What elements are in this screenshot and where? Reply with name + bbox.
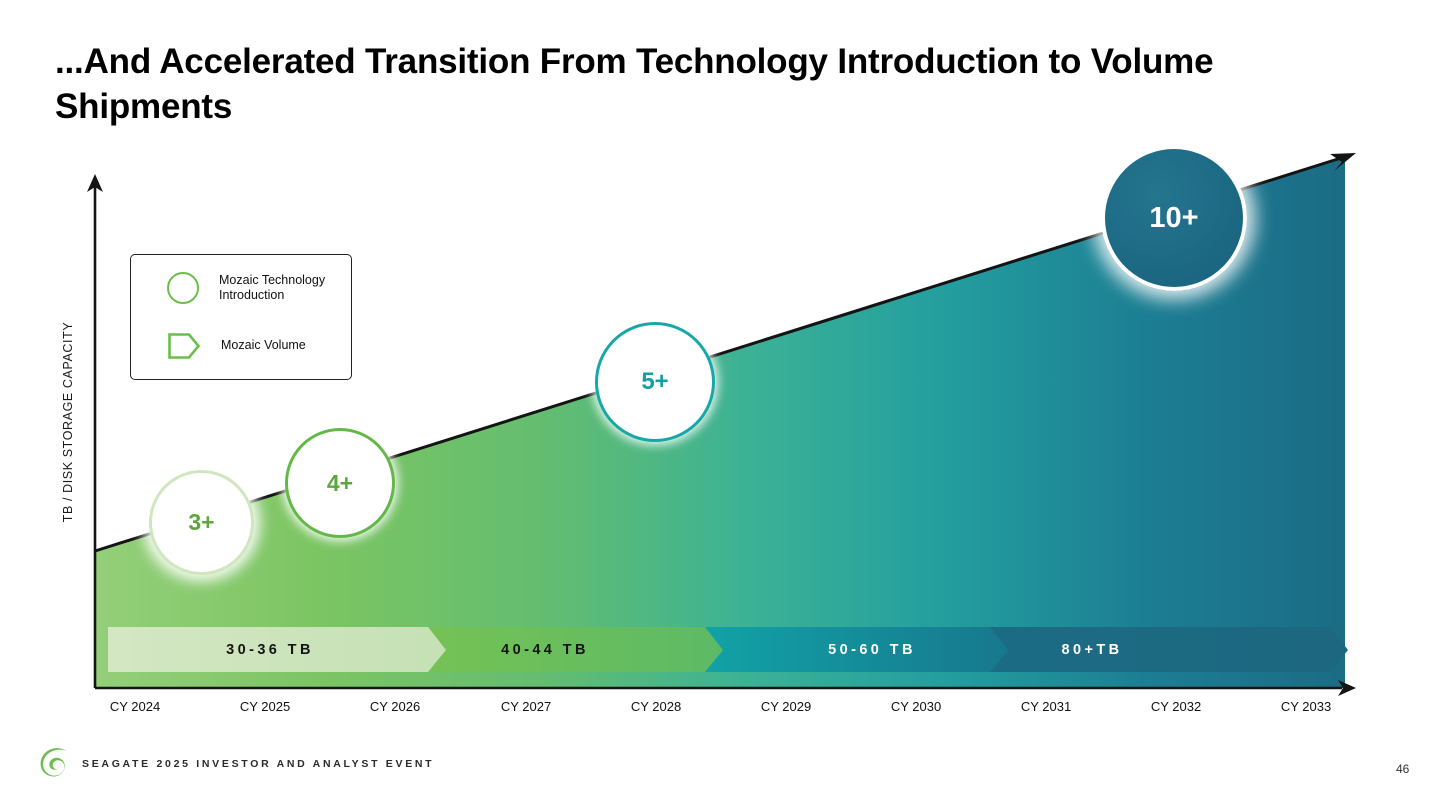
x-tick-cy-2024: CY 2024 [110, 699, 160, 714]
x-tick-cy-2031: CY 2031 [1021, 699, 1071, 714]
milestone-bubble-10plus: 10+ [1101, 145, 1247, 291]
x-tick-cy-2025: CY 2025 [240, 699, 290, 714]
milestone-bubble-3plus: 3+ [149, 470, 254, 575]
y-axis-label: TB / DISK STORAGE CAPACITY [61, 302, 75, 542]
page-number: 46 [1396, 762, 1409, 776]
x-tick-cy-2032: CY 2032 [1151, 699, 1201, 714]
milestone-bubble-5plus: 5+ [595, 322, 715, 442]
chart-legend: Mozaic Technology Introduction Mozaic Vo… [130, 254, 352, 380]
circle-outline-icon [167, 272, 199, 304]
x-tick-cy-2030: CY 2030 [891, 699, 941, 714]
legend-item-label: Mozaic Technology Introduction [219, 273, 325, 304]
arrow-pentagon-icon [167, 331, 201, 361]
legend-item-label: Mozaic Volume [221, 338, 306, 354]
x-tick-cy-2028: CY 2028 [631, 699, 681, 714]
seagate-spiral-logo-icon [36, 744, 76, 784]
x-tick-cy-2026: CY 2026 [370, 699, 420, 714]
x-tick-cy-2033: CY 2033 [1281, 699, 1331, 714]
legend-item-mozaic-technology-introduction: Mozaic Technology Introduction [167, 272, 325, 304]
capacity-band-label-50-60tb: 50-60 TB [828, 642, 916, 658]
capacity-band-label-30-36tb: 30-36 TB [226, 642, 314, 658]
capacity-band-label-40-44tb: 40-44 TB [501, 642, 589, 658]
x-tick-cy-2027: CY 2027 [501, 699, 551, 714]
x-tick-cy-2029: CY 2029 [761, 699, 811, 714]
milestone-bubble-4plus: 4+ [285, 428, 395, 538]
footer-event-text: SEAGATE 2025 INVESTOR AND ANALYST EVENT [82, 758, 434, 770]
capacity-band-label-80plustb: 80+TB [1062, 642, 1123, 658]
capacity-trend-chart: TB / DISK STORAGE CAPACITY Mozaic Techno… [0, 0, 1440, 800]
legend-item-mozaic-volume: Mozaic Volume [167, 331, 306, 361]
chart-canvas [0, 0, 1440, 800]
